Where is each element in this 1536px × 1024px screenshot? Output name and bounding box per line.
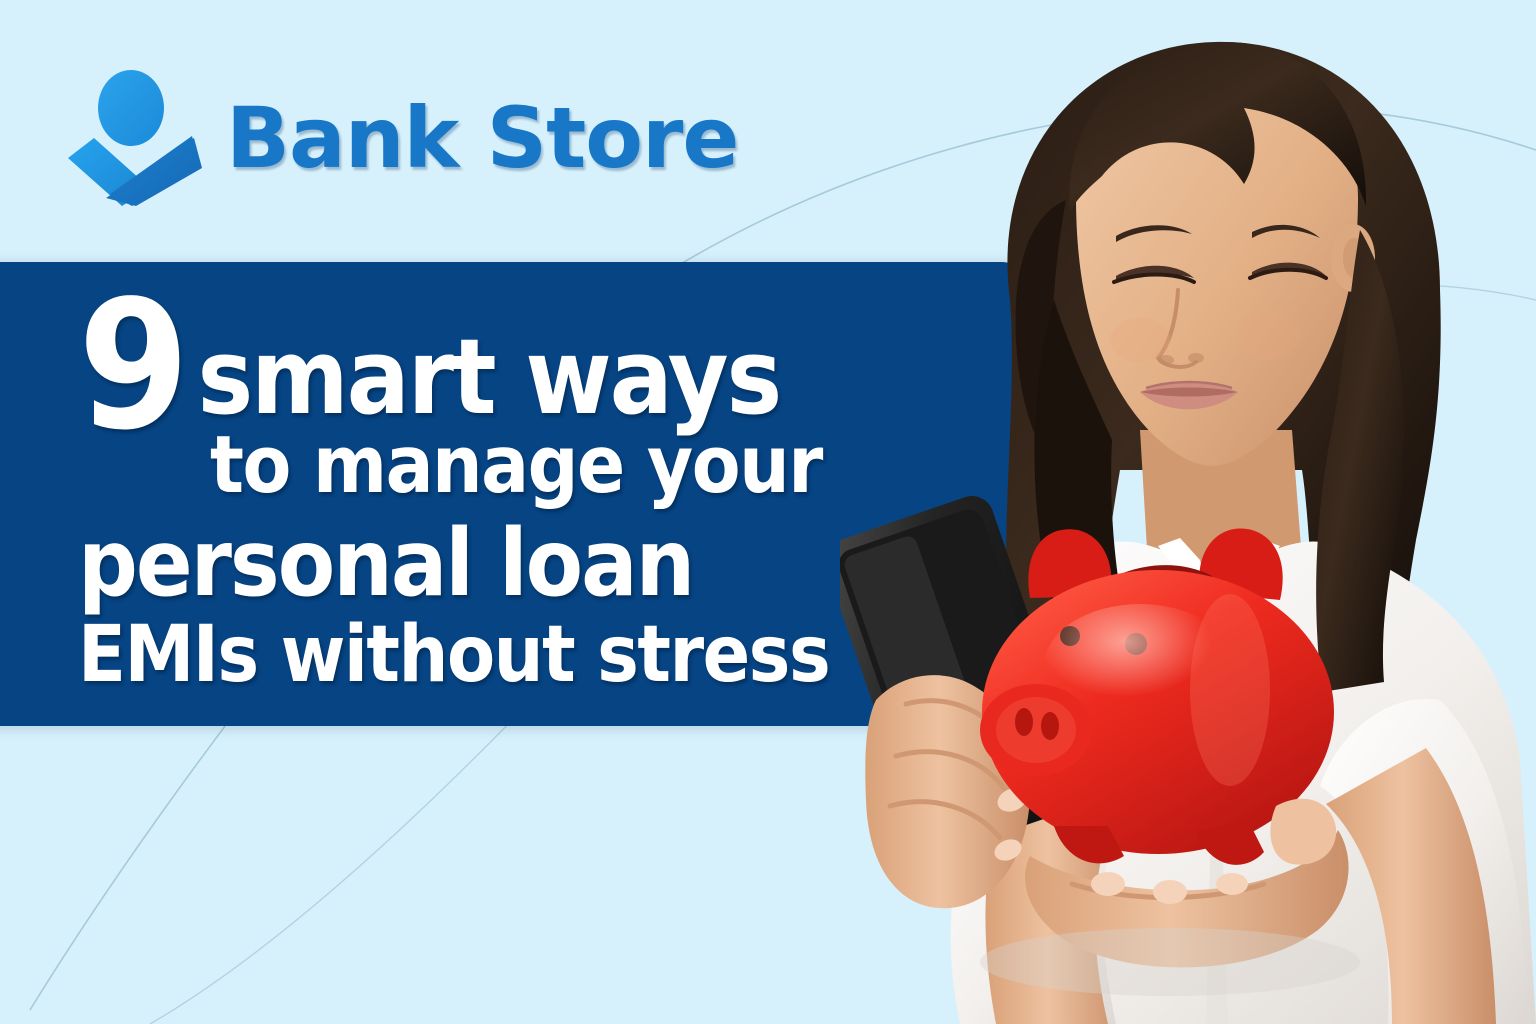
person-check-logo-icon [66,66,202,206]
headline-line-1: 9 smart ways [78,288,918,428]
brand-lockup[interactable]: Bank Store [66,66,738,206]
headline-line-3: personal loan [78,514,918,613]
brand-name: Bank Store [226,96,738,180]
headline-line-4: EMIs without stress [78,614,918,697]
headline-line-1-rest: smart ways [197,328,780,428]
banner-canvas: Bank Store 9 smart ways to manage your p… [0,0,1536,1024]
headline-number: 9 [78,302,183,430]
headline-text-block: 9 smart ways to manage your personal loa… [78,288,918,697]
headline-line-2: to manage your [210,424,918,508]
photo-woman-with-phone-and-piggy-bank [840,0,1536,1024]
